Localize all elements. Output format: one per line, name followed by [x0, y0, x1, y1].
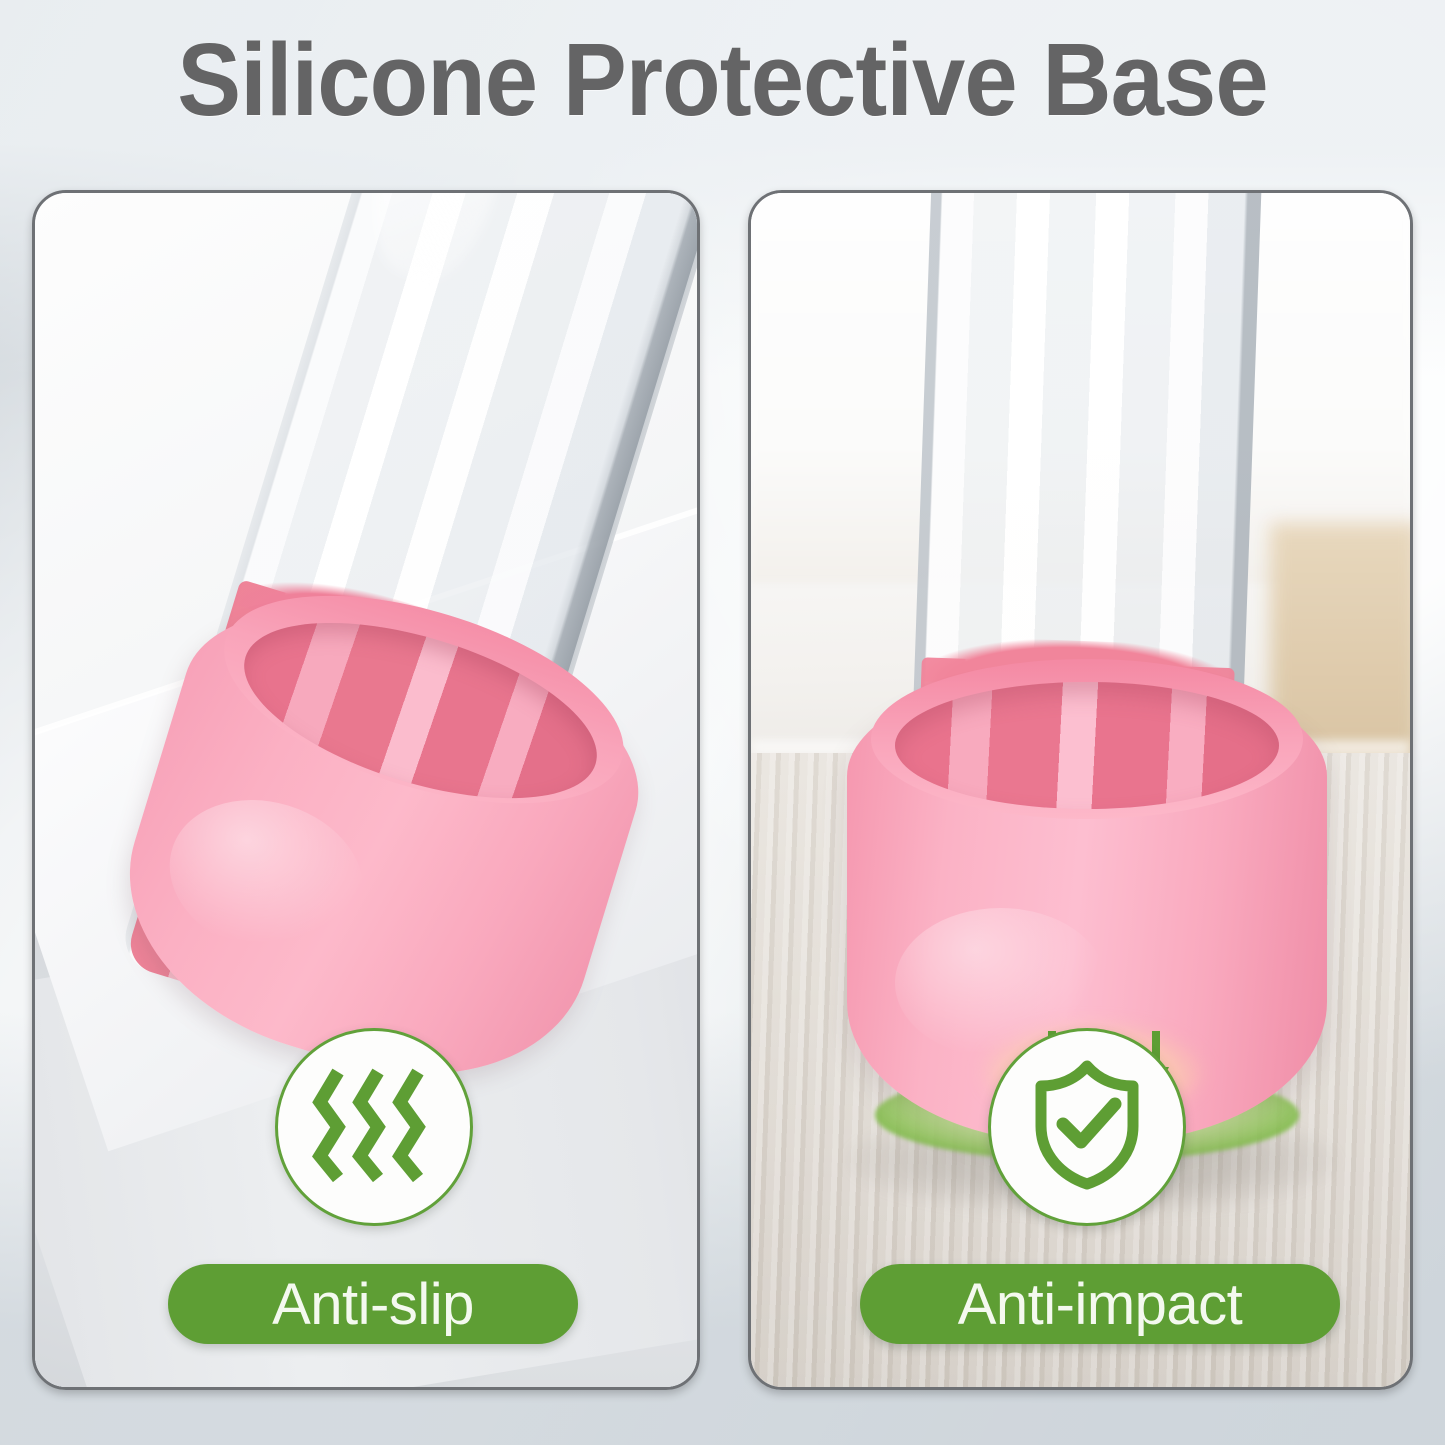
label-anti-impact: Anti-impact: [860, 1264, 1340, 1344]
sleeve-inner: [895, 682, 1279, 809]
badge-circle-anti-impact: [988, 1028, 1186, 1226]
page-title: Silicone Protective Base: [51, 28, 1395, 131]
friction-waves-icon: [312, 1064, 436, 1191]
feature-panels: [32, 190, 1413, 1390]
badge-circle-anti-slip: [275, 1028, 473, 1226]
label-anti-slip: Anti-slip: [168, 1264, 578, 1344]
shield-check-icon: [1025, 1060, 1149, 1195]
